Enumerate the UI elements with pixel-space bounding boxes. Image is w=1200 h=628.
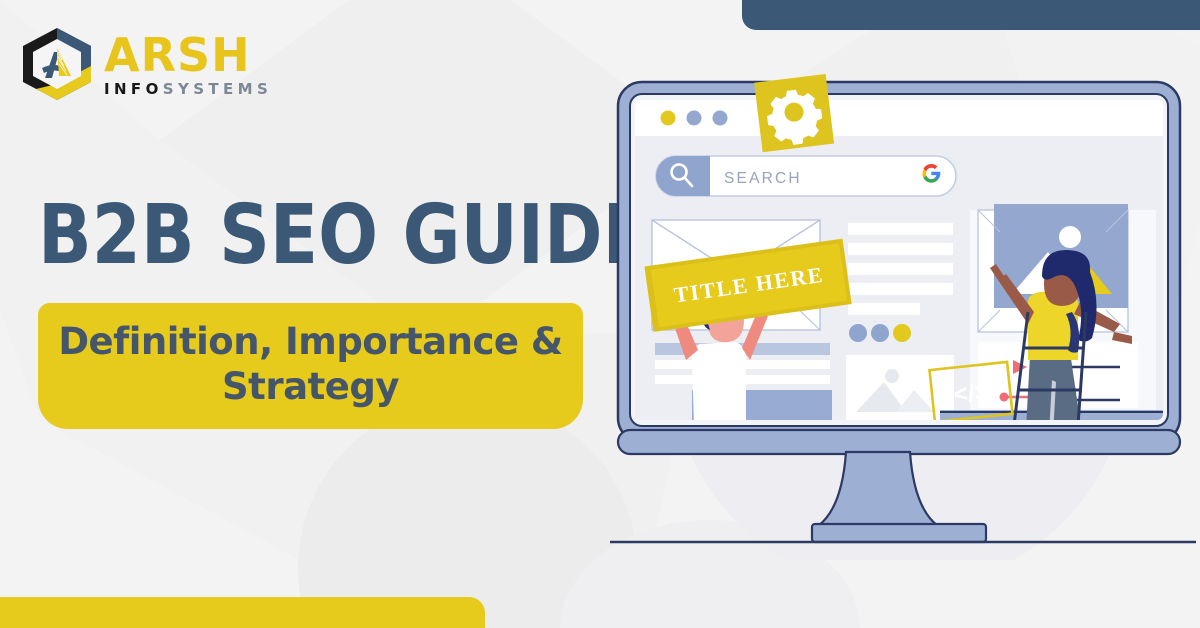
- gear-badge: [754, 74, 834, 152]
- bottom-left-ribbon: [0, 597, 485, 628]
- search-placeholder: SEARCH: [724, 170, 802, 187]
- arsh-hexagon-logo-icon: [18, 26, 96, 102]
- content-image-placeholder: [846, 355, 954, 420]
- seo-monitor-illustration: SEARCH: [600, 60, 1200, 560]
- subtitle-line-2: Strategy: [58, 364, 563, 409]
- brand-name: ARSH: [104, 30, 272, 80]
- content-dot-blue-1: [849, 324, 867, 342]
- brand-tagline-light: SYSTEMS: [163, 80, 272, 98]
- content-dot-yellow: [893, 324, 911, 342]
- search-bar: SEARCH: [656, 156, 956, 196]
- brand-tagline: INFOSYSTEMS: [104, 80, 272, 98]
- content-dots: [849, 324, 911, 342]
- window-dot-blue-1: [687, 111, 702, 126]
- brand-logo-text: ARSH INFOSYSTEMS: [104, 30, 272, 98]
- code-badge-text: </>: [952, 378, 989, 408]
- window-dot-yellow: [661, 111, 676, 126]
- content-dot-blue-2: [871, 324, 889, 342]
- monitor-neck-bar: [618, 430, 1180, 454]
- brand-tagline-bold: INFO: [104, 80, 163, 98]
- page-title: B2B SEO GUIDE: [38, 192, 651, 280]
- banner-canvas: ARSH INFOSYSTEMS B2B SEO GUIDE Definitio…: [0, 0, 1200, 628]
- top-right-ribbon: [742, 0, 1200, 30]
- window-dot-blue-2: [713, 111, 728, 126]
- subtitle-banner: Definition, Importance & Strategy: [38, 303, 583, 429]
- brand-logo[interactable]: ARSH INFOSYSTEMS: [18, 26, 268, 102]
- monitor-stand-base: [812, 524, 986, 542]
- subtitle-line-1: Definition, Importance &: [58, 319, 563, 364]
